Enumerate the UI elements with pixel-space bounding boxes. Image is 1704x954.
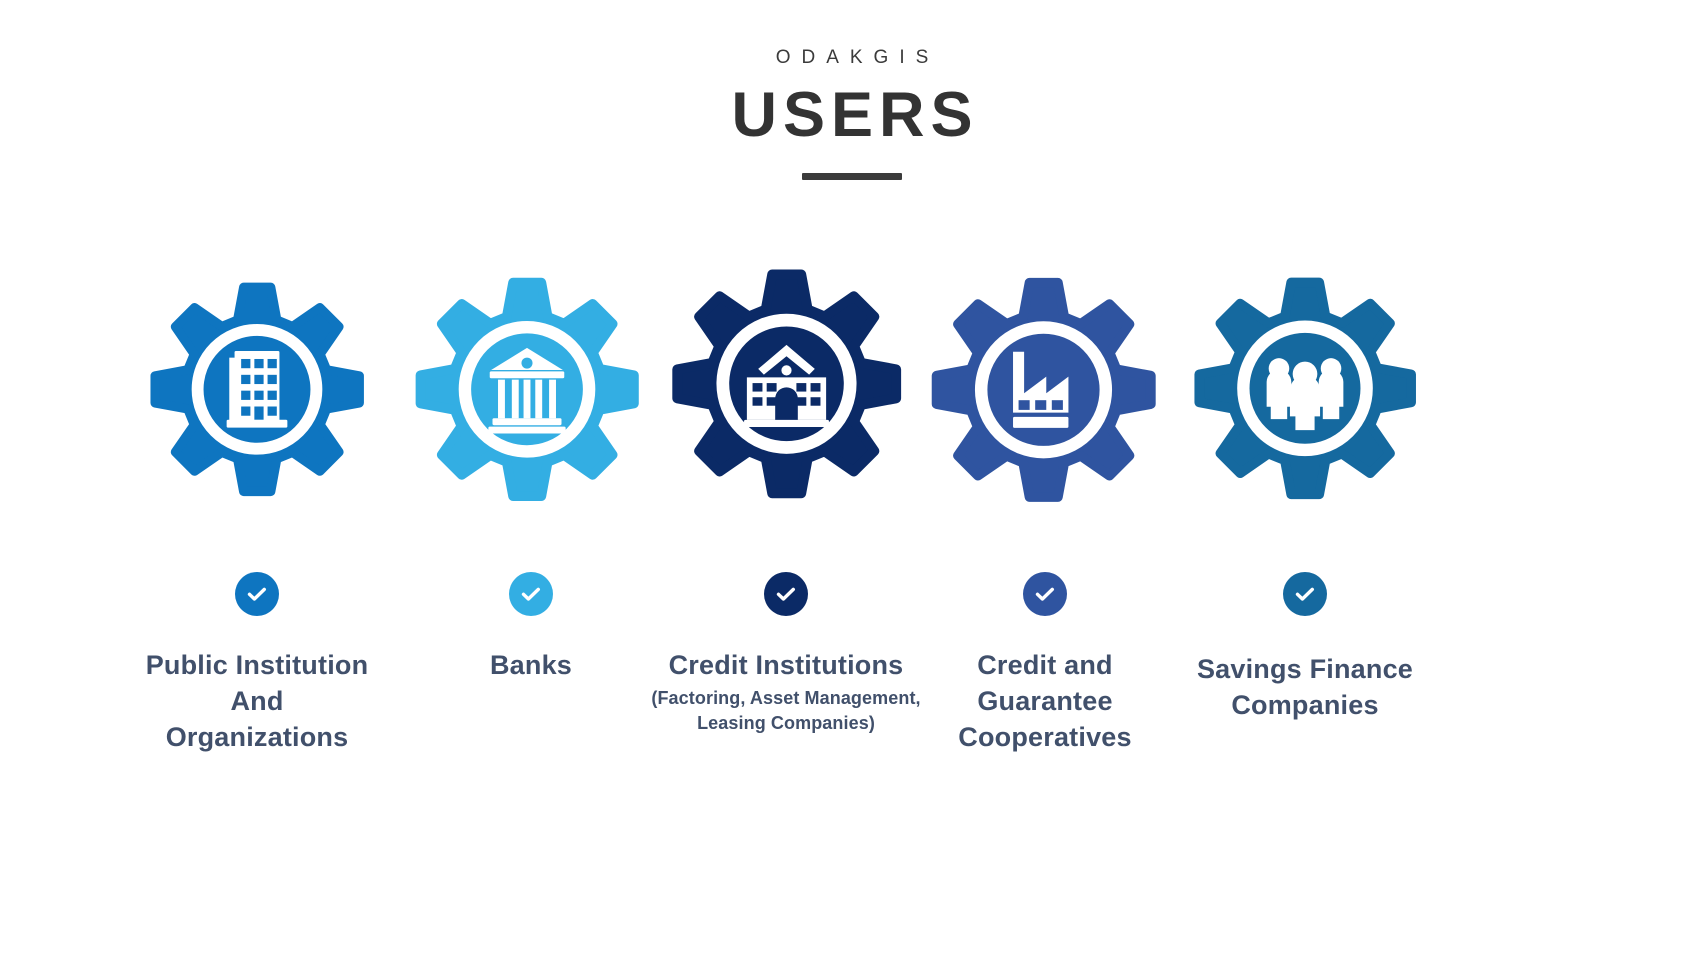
gear-shape-1 [125,258,389,522]
gear-savings-finance-companies[interactable] [1168,252,1442,526]
check-icon [519,582,543,606]
status-badge [764,572,808,616]
column-public-institution-and-organizations: Public Institution And Organizations [137,572,377,756]
gear-shape-3 [645,243,928,526]
check-icon [245,582,269,606]
status-badge [1283,572,1327,616]
status-badge [509,572,553,616]
gear-shape-2 [389,252,665,528]
status-badge [1023,572,1067,616]
slide-root: ODAKGIS USERS [0,0,1704,954]
gear-banks[interactable] [389,252,665,528]
column-credit-and-guarantee-cooperatives: Credit and Guarantee Cooperatives [925,572,1165,756]
check-icon [1033,582,1057,606]
column-label: Savings Finance Companies [1174,652,1436,724]
office-building-icon [227,351,288,428]
column-sublabel: (Factoring, Asset Management, Leasing Co… [641,686,931,736]
column-banks: Banks [411,572,651,684]
gear-credit-institutions[interactable] [645,243,928,526]
column-label: Public Institution And Organizations [137,648,377,756]
column-savings-finance-companies: Savings Finance Companies [1174,572,1436,724]
gear-shape-5 [1168,252,1442,526]
column-label: Credit and Guarantee Cooperatives [925,648,1165,756]
slide-header: ODAKGIS USERS [0,48,1704,180]
check-icon [774,582,798,606]
gear-credit-and-guarantee-cooperatives[interactable] [905,252,1182,529]
check-icon [1293,582,1317,606]
column-credit-institutions: Credit Institutions (Factoring, Asset Ma… [641,572,931,736]
page-title: USERS [0,84,1704,147]
gear-public-institution-and-organizations[interactable] [125,258,389,522]
column-label: Banks [411,648,651,684]
brand-eyebrow: ODAKGIS [0,48,1704,67]
title-underline-rule [802,173,902,180]
status-badge [235,572,279,616]
gear-shape-4 [905,252,1182,529]
column-label: Credit Institutions [641,648,931,684]
